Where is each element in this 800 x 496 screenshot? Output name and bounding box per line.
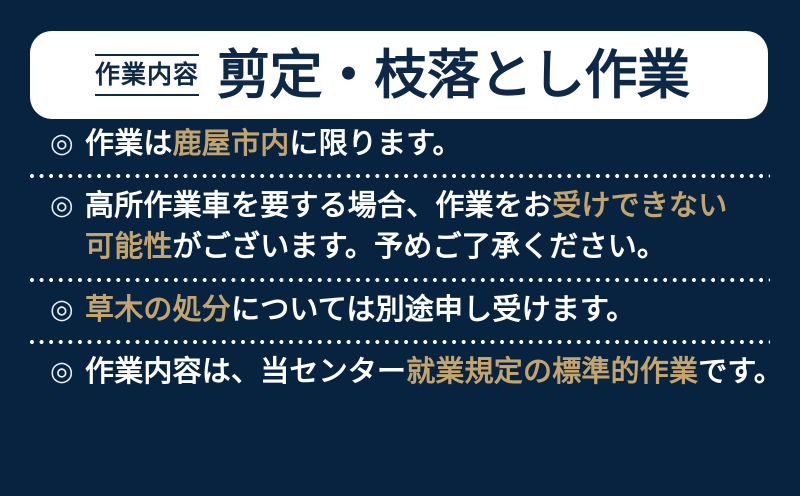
plain-text: がございます。予めご了承ください。 bbox=[173, 231, 667, 263]
dotted-divider bbox=[30, 340, 770, 344]
dotted-divider bbox=[30, 278, 770, 282]
dotted-divider bbox=[30, 174, 770, 178]
note-text: 草木の処分については別途申し受けます。 bbox=[85, 290, 635, 331]
double-circle-bullet-icon: ◎ bbox=[50, 352, 85, 390]
header-eyebrow-label: 作業内容 bbox=[95, 54, 199, 95]
note-line: ◎作業は鹿屋市内に限ります。 bbox=[30, 124, 770, 165]
note-item: ◎草木の処分については別途申し受けます。 bbox=[0, 290, 800, 331]
note-item: ◎高所作業車を要する場合、作業をお受けできない可能性がございます。予めご了承くだ… bbox=[0, 186, 800, 268]
note-item: ◎作業内容は、当センター就業規定の標準的作業です。 bbox=[0, 352, 800, 393]
highlighted-text: 可能性 bbox=[85, 231, 173, 263]
page-title: 剪定・枝落とし作業 bbox=[217, 49, 690, 102]
service-info-banner: 作業内容 剪定・枝落とし作業 ◎作業は鹿屋市内に限ります。◎高所作業車を要する場… bbox=[0, 0, 800, 496]
note-line: 可能性がございます。予めご了承ください。 bbox=[30, 227, 770, 268]
highlighted-text: 鹿屋市内 bbox=[173, 128, 290, 160]
header-card: 作業内容 剪定・枝落とし作業 bbox=[30, 31, 768, 119]
double-circle-bullet-icon: ◎ bbox=[50, 124, 85, 162]
plain-text: 高所作業車を要する場合、作業をお bbox=[85, 190, 552, 222]
note-text: 作業内容は、当センター就業規定の標準的作業です。 bbox=[85, 352, 783, 393]
plain-text: 作業内容は、当センター bbox=[85, 356, 406, 388]
note-text: 可能性がございます。予めご了承ください。 bbox=[85, 227, 666, 268]
notes-list: ◎作業は鹿屋市内に限ります。◎高所作業車を要する場合、作業をお受けできない可能性… bbox=[0, 124, 800, 393]
plain-text: に限ります。 bbox=[289, 128, 461, 160]
note-line: ◎作業内容は、当センター就業規定の標準的作業です。 bbox=[30, 352, 770, 393]
plain-text: については別途申し受けます。 bbox=[231, 294, 635, 326]
highlighted-text: 受けできない bbox=[552, 190, 727, 222]
note-line: ◎草木の処分については別途申し受けます。 bbox=[30, 290, 770, 331]
plain-text: です。 bbox=[698, 356, 783, 388]
note-line: ◎高所作業車を要する場合、作業をお受けできない bbox=[30, 186, 770, 227]
note-text: 作業は鹿屋市内に限ります。 bbox=[85, 124, 462, 165]
plain-text: 作業は bbox=[85, 128, 173, 160]
double-circle-bullet-icon: ◎ bbox=[50, 290, 85, 328]
highlighted-text: 就業規定の標準的作業 bbox=[406, 356, 698, 388]
note-item: ◎作業は鹿屋市内に限ります。 bbox=[0, 124, 800, 165]
note-text: 高所作業車を要する場合、作業をお受けできない bbox=[85, 186, 727, 227]
double-circle-bullet-icon: ◎ bbox=[50, 186, 85, 224]
highlighted-text: 草木の処分 bbox=[85, 294, 231, 326]
